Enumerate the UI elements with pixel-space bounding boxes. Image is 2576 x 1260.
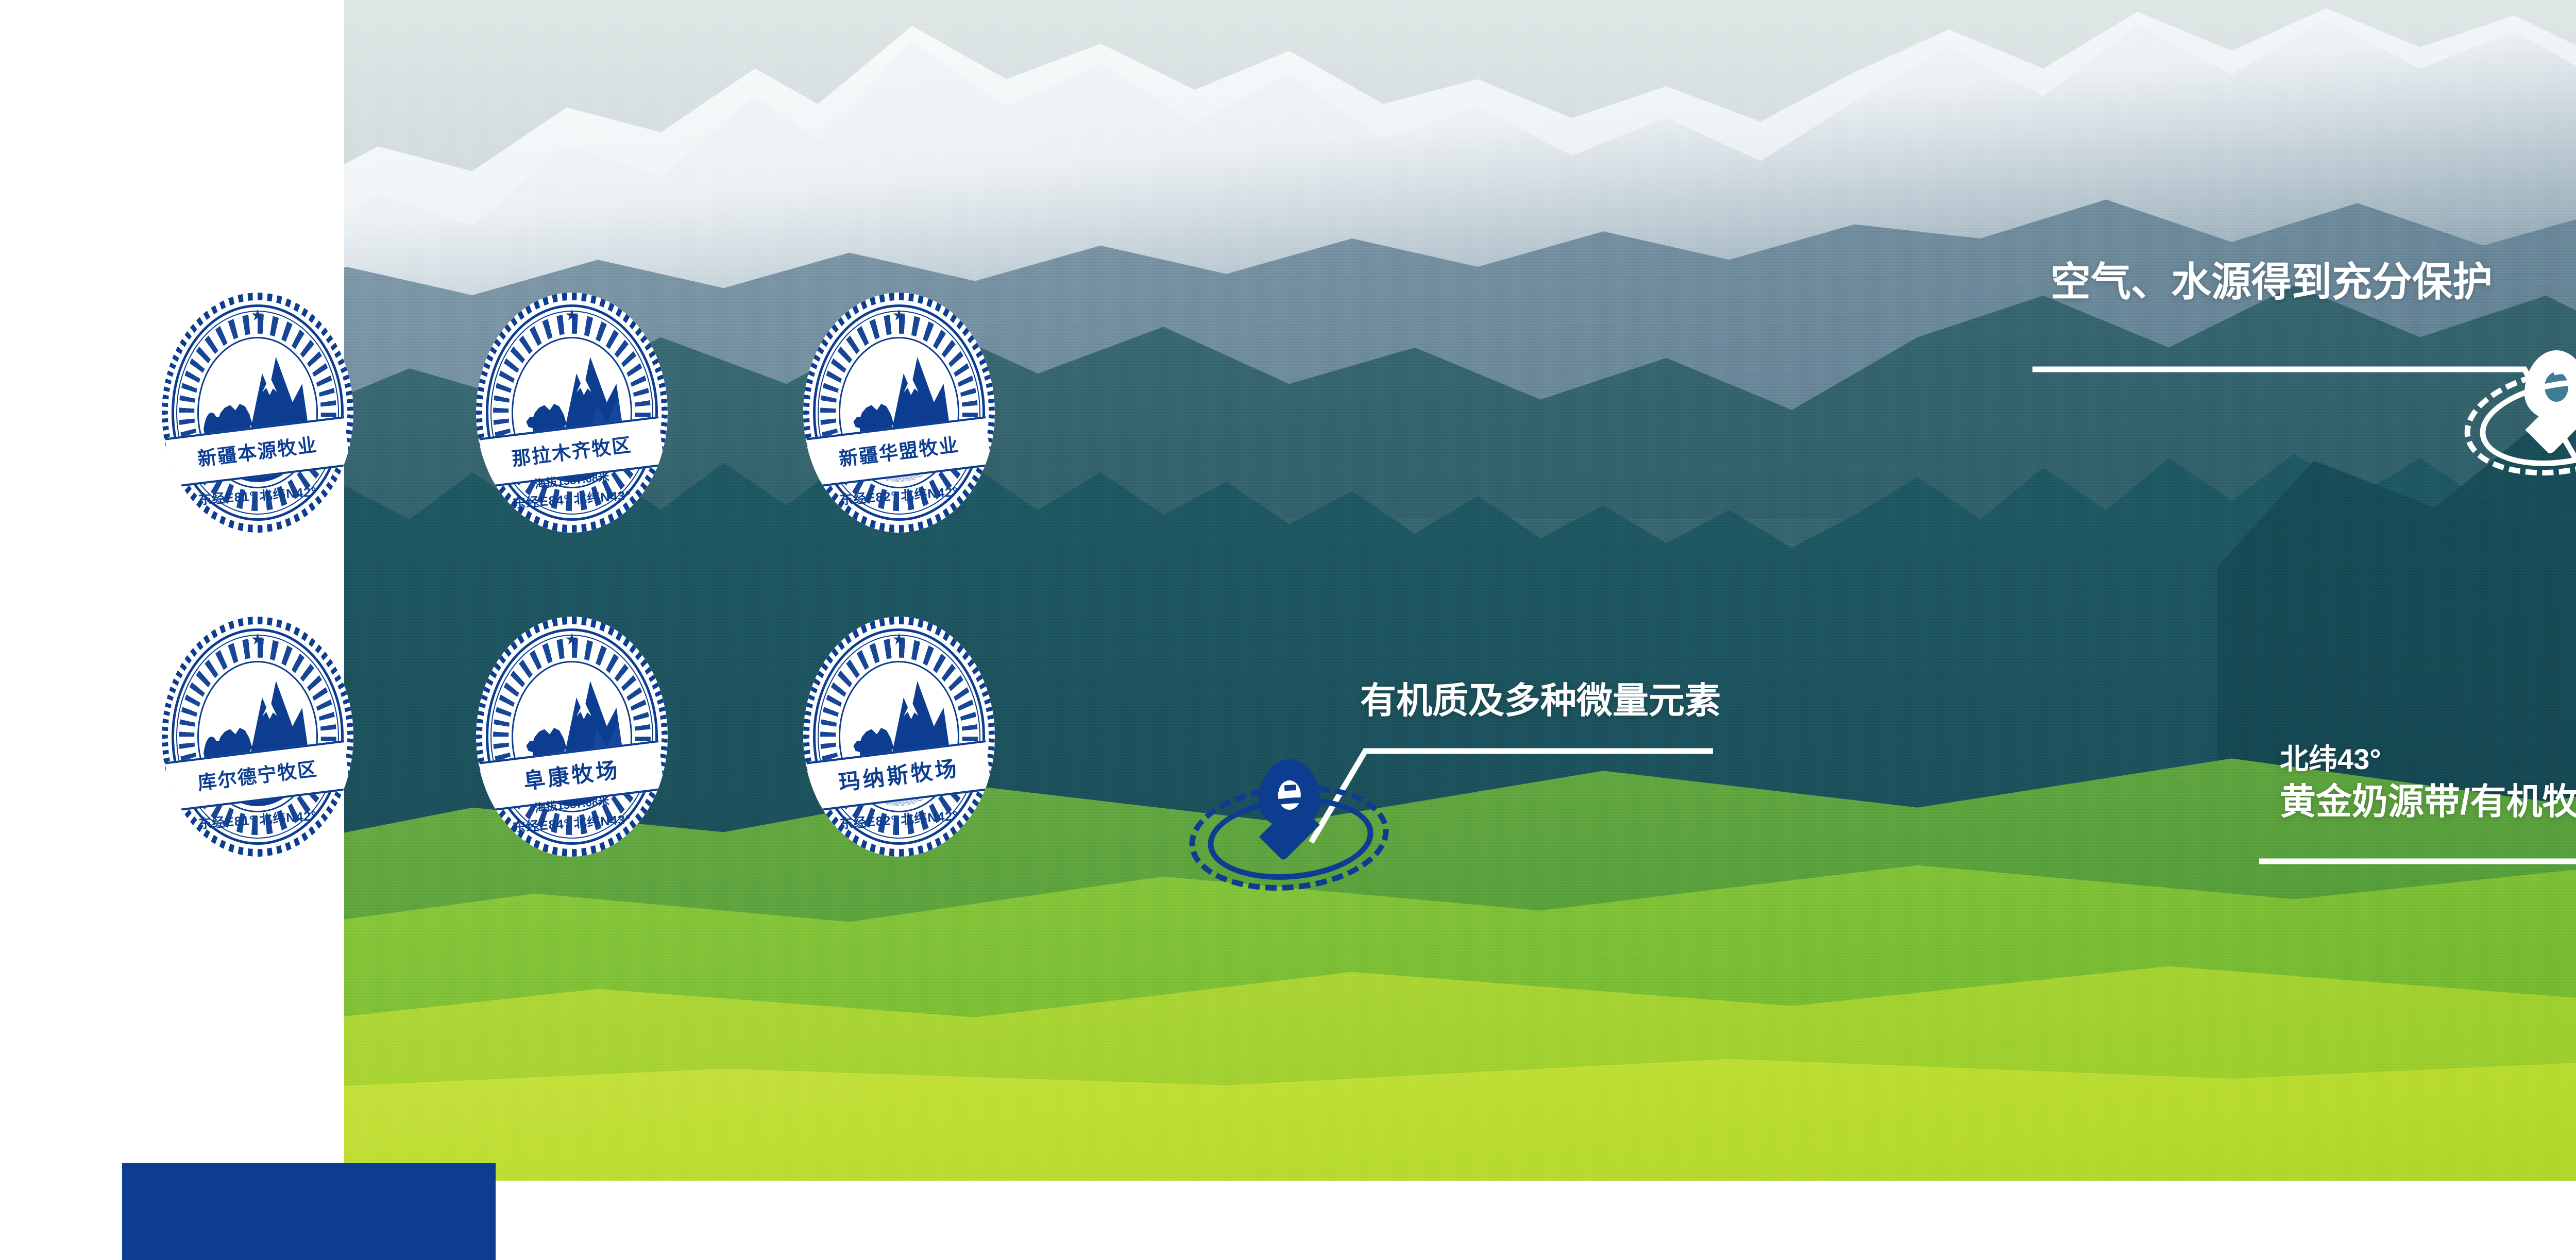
badge-name-label: 玛纳斯牧场 xyxy=(838,758,960,794)
badge-kuerdening[interactable]: ★ 库尔德宁牧区 东经E81° 北纬N42° xyxy=(162,617,353,857)
star-icon: ★ xyxy=(251,308,265,323)
star-icon: ★ xyxy=(565,632,579,648)
callout-golden-belt-leader-line xyxy=(2257,835,2576,1041)
blue-accent-bar xyxy=(122,1163,496,1260)
star-icon: ★ xyxy=(892,632,906,648)
star-icon: ★ xyxy=(251,632,265,648)
callout-air-water-label: 空气、水源得到充分保护 xyxy=(2050,258,2493,307)
badge-name-label: 库尔德宁牧区 xyxy=(197,759,319,793)
badge-name-label: 那拉木齐牧区 xyxy=(511,435,633,469)
badge-name-label: 新疆华盟牧业 xyxy=(838,435,960,469)
callout-golden-belt-line2: 黄金奶源带/有机牧场 xyxy=(2280,780,2576,824)
star-icon: ★ xyxy=(892,308,906,323)
badge-nalamuqi[interactable]: ★ 那拉木齐牧区 海拔1387.68米 东经E84° 北纬N43° xyxy=(476,293,668,533)
badge-name-label: 阜康牧场 xyxy=(522,759,621,793)
callout-organic-matter-label: 有机质及多种微量元素 xyxy=(1360,679,1721,723)
banner-root: ★ 新疆本源牧业 东经E81° 北纬N42° ★ xyxy=(0,0,2576,1260)
callout-golden-belt: 北纬43° 黄金奶源带/有机牧场 xyxy=(2280,742,2576,824)
callout-golden-belt-line1: 北纬43° xyxy=(2280,742,2576,777)
star-icon: ★ xyxy=(565,308,579,323)
callout-organic-matter: 有机质及多种微量元素 xyxy=(1360,679,1721,723)
callout-air-water: 空气、水源得到充分保护 xyxy=(2050,258,2493,307)
badge-name-label: 新疆本源牧业 xyxy=(197,435,319,469)
badge-xinjiang-huameng[interactable]: ★ 新疆华盟牧业 东经E82° 北纬N42° xyxy=(803,293,995,533)
farm-badge-grid: ★ 新疆本源牧业 东经E81° 北纬N42° ★ xyxy=(0,0,1082,927)
badge-fukang[interactable]: ★ 阜康牧场 海拔1387.68米 东经E84° 北纬N43° xyxy=(476,617,668,857)
badge-manasi[interactable]: ★ 玛纳斯牧场 东经E82° 北纬N42° xyxy=(803,617,995,857)
badge-xinjiang-benyuan[interactable]: ★ 新疆本源牧业 东经E81° 北纬N42° xyxy=(162,293,353,533)
